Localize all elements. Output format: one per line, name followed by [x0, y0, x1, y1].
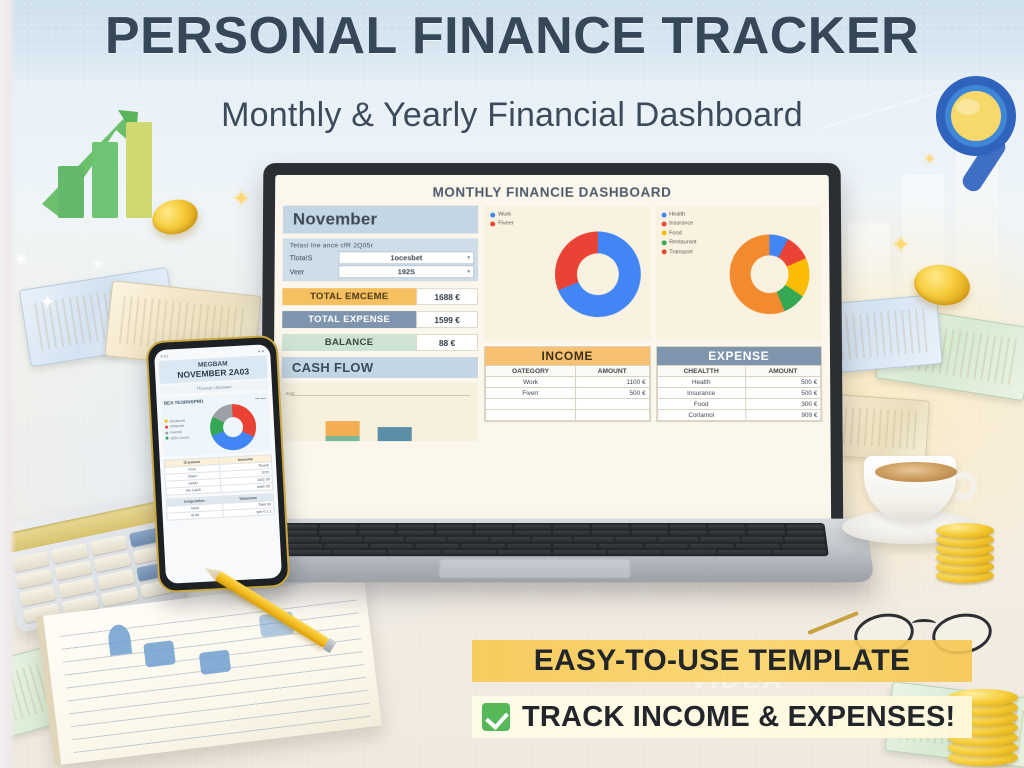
month-dropdown[interactable]: 1ocesbet ▾ — [338, 251, 474, 264]
expense-table: EXPENSE CHEALTTH AMOUNT Health500 € Insu… — [655, 346, 822, 422]
status-indicators: ● ● — [258, 348, 264, 353]
table-row: Insurance500 € — [657, 388, 821, 399]
glasses-bridge — [912, 619, 936, 628]
income-table-title: INCOME — [485, 347, 650, 365]
kpi-total-income: TOTAL EMCEME 1688 € — [282, 288, 478, 305]
legend-item: Inssrance — [661, 221, 721, 227]
kpi-label: TOTAL EMCEME — [282, 288, 416, 305]
legend-item: Transport — [661, 249, 721, 255]
cell-category — [485, 410, 575, 421]
laptop-base — [229, 519, 875, 583]
page-title: PERSONAL FINANCE TRACKER — [0, 6, 1024, 66]
table-row: Cortamol909 € — [657, 410, 821, 421]
legend-label: Fiveer — [498, 221, 514, 227]
banner-track-income: TRACK INCOME & EXPENSES! — [472, 696, 972, 738]
chevron-down-icon: ▾ — [467, 254, 470, 261]
legend-color-swatch — [165, 431, 168, 434]
selector-label: Veer — [287, 267, 339, 276]
selector-heading: Tetasl Ine ance cfR 2Q05r — [287, 241, 475, 250]
cell-category: Insurance — [657, 388, 745, 399]
cell-category: Health — [657, 376, 745, 387]
selector-row-year[interactable]: Veer 192S ▾ — [287, 265, 475, 278]
legend-color-swatch — [166, 437, 169, 440]
phone-table-expense: Intrgortolon Tolamntoe tolortTobd b6 tb-… — [166, 493, 275, 521]
year-dropdown[interactable]: 192S ▾ — [338, 265, 474, 278]
table-row: Fiverr500 € — [485, 388, 649, 399]
income-donut-card: Wurk Fiveer — [484, 206, 650, 341]
laptop-mockup: MONTHLY FINANCIE DASHBOARD November Teta… — [262, 162, 842, 582]
cash-flow-baseline — [290, 395, 470, 396]
banner-text: TRACK INCOME & EXPENSES! — [522, 701, 955, 734]
column-header: AMOUNT — [745, 365, 820, 376]
coffee-surface — [875, 462, 957, 482]
legend-label: Wurk — [498, 212, 511, 218]
expense-donut-chart — [729, 234, 809, 314]
legend-color-swatch — [490, 212, 495, 217]
laptop-screen: MONTHLY FINANCIE DASHBOARD November Teta… — [273, 175, 831, 527]
expense-table-title: EXPENSE — [656, 347, 821, 365]
left-page-edge — [0, 0, 16, 768]
laptop-trackpad[interactable] — [438, 559, 631, 579]
notepad-lines — [60, 600, 371, 756]
kpi-value: 1599 € — [416, 311, 478, 328]
table-row — [485, 410, 649, 421]
phone-card-title: BEA TEORNSPRD — [164, 399, 204, 406]
legend-item: Restaurant — [661, 240, 721, 246]
expense-donut-legend: Health Inssrance Food Restaurant Transpo… — [661, 212, 721, 337]
cell-amount: 1100 € — [575, 376, 649, 387]
sparkle-icon: ✦ — [40, 292, 55, 313]
cell-category — [485, 399, 575, 410]
phone-donut-chart — [209, 403, 257, 451]
laptop-lid: MONTHLY FINANCIE DASHBOARD November Teta… — [261, 163, 844, 553]
expense-donut-card: Health Inssrance Food Restaurant Transpo… — [655, 206, 822, 341]
dashboard-title: MONTHLY FINANCIE DASHBOARD — [283, 185, 821, 200]
phone-donut-card: BEA TEORNSPRD — — Werkenee Ithhemee Feen… — [160, 392, 271, 457]
legend-label: Werkenee — [170, 418, 186, 423]
legend-item: Health — [661, 212, 721, 218]
table-row — [485, 399, 649, 410]
kpi-value: 1688 € — [416, 288, 478, 305]
month-dropdown-value: 1ocesbet — [390, 253, 422, 262]
phone-table-income: Oriymnee Amoume DumTloenb cldem2070 Aidu… — [164, 454, 274, 496]
sparkle-icon: ✦ — [92, 256, 104, 273]
dashboard-right-column: Wurk Fiveer Health — [484, 206, 823, 441]
legend-color-swatch — [661, 240, 666, 245]
page-subtitle: Monthly & Yearly Financial Dashboard — [0, 96, 1024, 135]
sparkle-icon: ✦ — [892, 232, 910, 258]
income-table: INCOME OATEGORY AMOUNT Work1100 € Fiverr… — [484, 346, 651, 422]
legend-item: Wurk — [490, 212, 550, 218]
phone-card-meta: — — — [255, 395, 266, 401]
poster-canvas: ✦ ✦ ✦ ✦ ✦ ✦ PERSONAL FINANCE TRACKER Mon… — [0, 0, 1024, 768]
monthly-dashboard: MONTHLY FINANCIE DASHBOARD November Teta… — [273, 175, 831, 527]
legend-label: Ithhemee — [170, 424, 184, 429]
column-header: CHEALTTH — [657, 365, 745, 376]
kpi-balance: BALANCE 88 € — [282, 334, 478, 351]
cell-category: tb-lbl — [167, 510, 224, 520]
year-dropdown-value: 192S — [398, 267, 415, 276]
cash-flow-heading: CASH FLOW — [282, 357, 478, 378]
legend-item: Fiveer — [490, 221, 550, 227]
legend-color-swatch — [661, 249, 666, 254]
sparkle-icon: ✦ — [14, 250, 27, 270]
month-heading: November — [283, 206, 478, 234]
legend-label: Health — [669, 212, 685, 218]
dashboard-left-column: November Tetasl Ine ance cfR 2Q05r Tlota… — [281, 206, 478, 441]
cell-amount: 909 € — [745, 410, 821, 421]
legend-label: Inssrance — [669, 221, 693, 227]
table-row: Health500 € — [657, 376, 821, 387]
table-row: Food300 € — [657, 399, 821, 410]
column-header: OATEGORY — [485, 365, 575, 376]
check-mark-icon — [482, 703, 510, 731]
legend-color-swatch — [165, 425, 168, 428]
period-selector[interactable]: Tetasl Ine ance cfR 2Q05r Tlota!S 1ocesb… — [283, 238, 479, 281]
income-donut-legend: Wurk Fiveer — [490, 212, 550, 337]
cash-flow-chart: 4ntd — [281, 383, 478, 441]
legend-item: OEN Lrenan — [165, 434, 207, 440]
legend-label: Transport — [669, 249, 693, 255]
legend-color-swatch — [490, 221, 495, 226]
income-donut-chart — [555, 231, 641, 317]
chevron-down-icon: ▾ — [467, 268, 470, 275]
cell-amount: 500 € — [576, 388, 650, 399]
cell-amount: 500 € — [745, 388, 820, 399]
laptop-keyboard[interactable] — [275, 523, 829, 556]
legend-color-swatch — [165, 420, 168, 423]
cash-flow-bar-expense — [378, 427, 412, 441]
cell-amount: gcb-b 1.1 — [223, 508, 274, 518]
cell-amount: eebh 00 — [221, 483, 273, 493]
banner-text: EASY-TO-USE TEMPLATE — [534, 644, 911, 678]
cash-flow-bar-overlay — [326, 436, 360, 441]
cell-amount — [576, 410, 650, 421]
phone-screen: 9:41 ● ● MEGBAM NOVEMBER 2A03 Tharetar L… — [154, 344, 282, 584]
status-time: 9:41 — [160, 353, 168, 358]
gold-coin-icon — [936, 505, 996, 583]
cell-category: Cortamol — [657, 410, 745, 421]
phone-header: MEGBAM NOVEMBER 2A03 — [159, 355, 268, 384]
legend-label: Feende — [170, 430, 182, 435]
notepad-marking — [143, 640, 176, 667]
cash-flow-bars — [326, 405, 412, 441]
column-header: AMOUNT — [575, 365, 649, 376]
phone-donut-legend: Werkenee Ithhemee Feende OEN Lrenan — [165, 417, 208, 442]
cell-category: Work — [485, 376, 575, 387]
phone-mockup: 9:41 ● ● MEGBAM NOVEMBER 2A03 Tharetar L… — [145, 335, 290, 594]
kpi-total-expense: TOTAL EXPENSE 1599 € — [282, 311, 478, 328]
cell-amount: 500 € — [745, 376, 820, 387]
legend-item: Food — [661, 230, 721, 236]
legend-label: Restaurant — [669, 240, 696, 246]
legend-color-swatch — [661, 221, 666, 226]
legend-label: Food — [669, 230, 682, 236]
table-row: Work1100 € — [485, 376, 649, 387]
cell-category: Food — [657, 399, 745, 410]
legend-label: OEN Lrenan — [170, 435, 189, 440]
cell-category: Fiverr — [485, 388, 575, 399]
kpi-label: BALANCE — [282, 334, 416, 351]
kpi-label: TOTAL EXPENSE — [282, 311, 416, 328]
cell-amount — [576, 399, 650, 410]
legend-color-swatch — [661, 212, 666, 217]
banner-easy-to-use: EASY-TO-USE TEMPLATE — [472, 640, 972, 682]
legend-color-swatch — [661, 231, 666, 236]
selector-row-month[interactable]: Tlota!S 1ocesbet ▾ — [287, 251, 475, 264]
notepad-marking — [199, 649, 231, 674]
selector-label: Tlota!S — [287, 253, 339, 262]
cell-category: Re rodull — [166, 485, 221, 495]
sparkle-icon: ✦ — [232, 186, 250, 212]
kpi-value: 88 € — [416, 334, 478, 351]
cup-handle — [951, 472, 977, 500]
cell-amount: 300 € — [745, 399, 821, 410]
